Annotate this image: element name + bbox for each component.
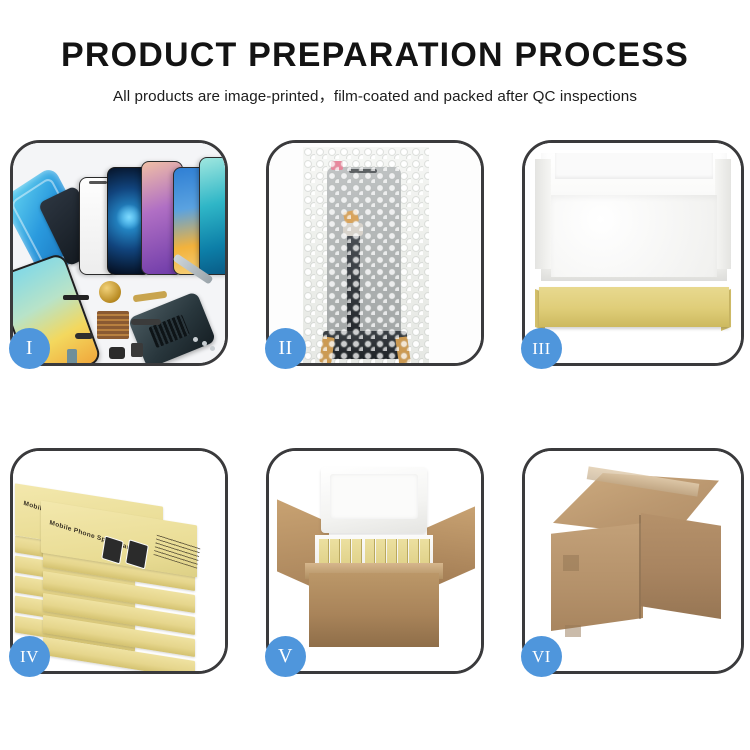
process-step-panel-1: I xyxy=(10,140,228,366)
flex-cable-black-icon xyxy=(131,319,161,325)
speaker-bar-icon xyxy=(63,295,89,300)
lcd-screen-inside-icon xyxy=(327,167,401,351)
box-label-front: Mobile Phone Spare Parts xyxy=(49,519,136,553)
white-connector-icon xyxy=(343,223,363,236)
box-corner-tab-top-icon xyxy=(563,555,579,571)
page-title: PRODUCT PREPARATION PROCESS xyxy=(0,36,750,75)
screws-icon xyxy=(193,337,217,351)
process-step-panel-5: V xyxy=(266,448,484,674)
box-corner-tab-bottom-icon xyxy=(565,625,581,637)
step-badge-2: II xyxy=(265,328,306,369)
sim-tray-icon xyxy=(67,349,77,363)
button-flex-icon xyxy=(75,333,93,339)
step-badge-4: IV xyxy=(9,636,50,677)
bottom-circuit-strip-icon xyxy=(323,331,407,359)
camera-module-icon xyxy=(131,343,143,357)
box-screen-thumb-c xyxy=(101,535,124,564)
speaker-module-icon xyxy=(109,347,125,359)
process-step-panel-2: II xyxy=(266,140,484,366)
pink-label-tab-icon xyxy=(331,161,343,170)
step-badge-5: V xyxy=(265,636,306,677)
sealed-box-side-icon xyxy=(641,513,721,619)
process-steps-grid: I II xyxy=(10,140,740,680)
sealed-box-edge-icon xyxy=(639,515,641,619)
panel-6-image xyxy=(525,451,741,671)
gold-component-icon xyxy=(99,281,121,303)
panel-5-image xyxy=(269,451,481,671)
foam-lid-open-icon xyxy=(321,467,427,533)
chip-array-icon xyxy=(97,311,129,339)
panel-3-image xyxy=(525,143,741,363)
white-foam-sheet-icon xyxy=(551,195,717,277)
phone-teal-icon xyxy=(199,157,225,275)
sealed-box-front-icon xyxy=(551,523,643,631)
phone-lineup xyxy=(79,157,225,275)
step-badge-3: III xyxy=(521,328,562,369)
kraft-tray-box-icon xyxy=(539,287,729,327)
panel-1-image xyxy=(13,143,225,363)
foam-lid-right-icon xyxy=(715,159,731,269)
page-subtitle: All products are image-printed，film-coat… xyxy=(0,84,750,106)
foam-lid-left-icon xyxy=(535,159,551,269)
box-spec-lines-front xyxy=(154,534,201,569)
box-stack: Mobile Phone Spare Parts Mobile Phone Sp… xyxy=(13,467,225,663)
step-badge-1: I xyxy=(9,328,50,369)
bubble-wrap-pouch xyxy=(303,147,429,363)
panel-2-image xyxy=(269,143,481,363)
process-step-panel-6: VI xyxy=(522,448,744,674)
product-preparation-process-page: PRODUCT PREPARATION PROCESS All products… xyxy=(0,0,750,750)
carton-body-icon xyxy=(309,573,439,647)
page-header: PRODUCT PREPARATION PROCESS All products… xyxy=(0,0,750,106)
process-step-panel-4: Mobile Phone Spare Parts Mobile Phone Sp… xyxy=(10,448,228,674)
screen-flex-cable-icon xyxy=(347,233,360,337)
box-screen-thumb-d xyxy=(125,539,149,569)
process-step-panel-3: III xyxy=(522,140,744,366)
step-badge-6: VI xyxy=(521,636,562,677)
panel-4-image: Mobile Phone Spare Parts Mobile Phone Sp… xyxy=(13,451,225,671)
